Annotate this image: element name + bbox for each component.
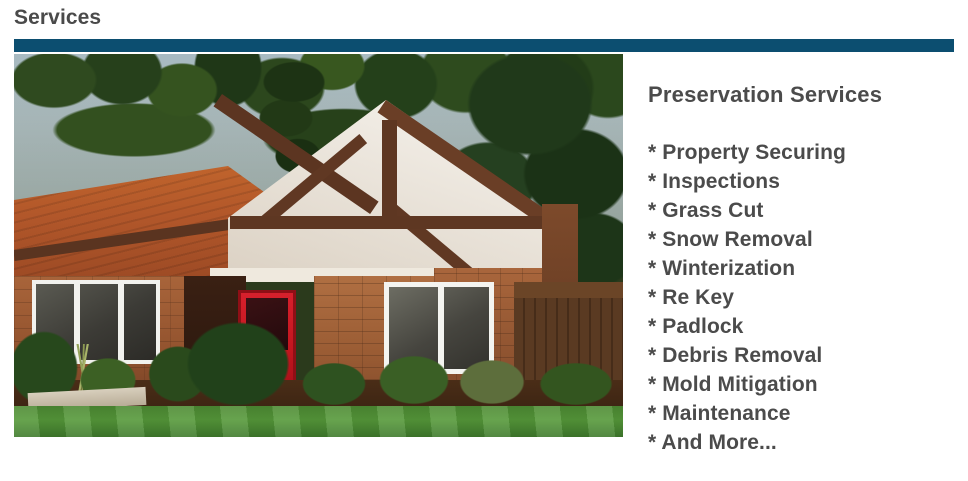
photo-lawn <box>14 406 623 437</box>
photo-gable-king-post <box>382 120 397 220</box>
list-item: * Winterization <box>648 254 960 283</box>
list-item: * And More... <box>648 428 960 457</box>
services-heading: Preservation Services <box>648 82 960 108</box>
list-item: * Grass Cut <box>648 196 960 225</box>
services-list: * Property Securing * Inspections * Gras… <box>648 138 960 457</box>
photo-shrub-large <box>174 312 304 416</box>
list-item: * Debris Removal <box>648 341 960 370</box>
list-item: * Snow Removal <box>648 225 960 254</box>
list-item: * Re Key <box>648 283 960 312</box>
photo-shrub-5 <box>372 346 458 410</box>
services-panel: Preservation Services * Property Securin… <box>648 82 960 457</box>
photo-privacy-fence-cap <box>514 282 623 298</box>
photo-gable-tie-beam <box>230 216 556 229</box>
photo-shrub-4 <box>294 354 374 410</box>
list-item: * Maintenance <box>648 399 960 428</box>
photo-shrub-6 <box>450 350 536 410</box>
house-photo <box>14 54 623 437</box>
list-item: * Padlock <box>648 312 960 341</box>
list-item: * Property Securing <box>648 138 960 167</box>
services-page: Services <box>0 0 968 481</box>
list-item: * Mold Mitigation <box>648 370 960 399</box>
section-divider-bar <box>14 39 954 52</box>
photo-shrub-7 <box>530 354 623 412</box>
list-item: * Inspections <box>648 167 960 196</box>
page-title: Services <box>14 6 101 30</box>
